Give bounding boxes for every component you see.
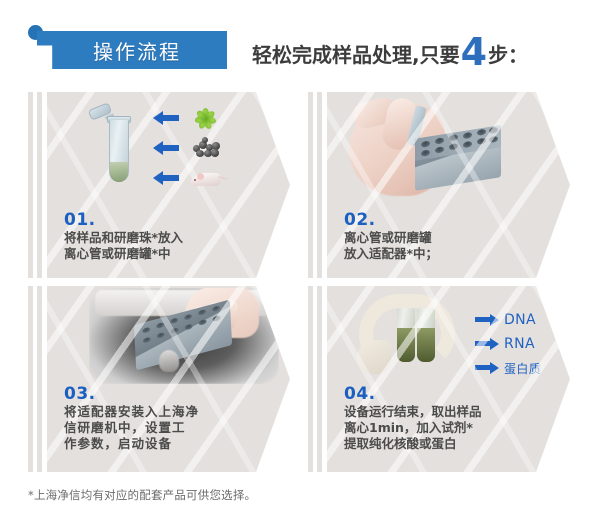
page-title: 轻松完成样品处理,只要 4 步： bbox=[252, 34, 528, 68]
step-card-01: 01. 将样品和研磨珠*放入 离心管或研磨罐*中 bbox=[28, 92, 290, 278]
card-accent-bar bbox=[28, 92, 33, 278]
sample-row-leaf bbox=[153, 106, 263, 130]
step-card-03: 03. 将适配器安装入上海净 信研磨机中，设置工 作参数，启动设备 bbox=[28, 286, 290, 472]
output-row-protein: 蛋白质 bbox=[475, 358, 541, 378]
card-accent-bar bbox=[317, 286, 322, 472]
photo-gloved-hand-vials bbox=[357, 292, 477, 388]
output-list: DNA RNA 蛋白质 bbox=[475, 310, 567, 380]
tube-liquid bbox=[110, 162, 128, 182]
leaf-icon bbox=[191, 106, 219, 130]
step-description: 将适配器安装入上海净 信研磨机中，设置工 作参数，启动设备 bbox=[64, 404, 254, 452]
sample-vial bbox=[417, 308, 435, 362]
output-label: DNA bbox=[504, 312, 536, 328]
sample-types-list bbox=[153, 106, 263, 192]
page-header: 操作流程 轻松完成样品处理,只要 4 步： bbox=[0, 0, 600, 86]
output-label: 蛋白质 bbox=[504, 360, 541, 377]
step-description: 离心管或研磨罐 放入适配器*中； bbox=[344, 230, 534, 262]
grinding-beads-icon bbox=[191, 137, 223, 159]
banner-title: 操作流程 bbox=[37, 31, 227, 69]
step-number: 02. bbox=[344, 210, 376, 230]
sample-row-beads bbox=[153, 136, 263, 160]
infographic-page: 操作流程 轻松完成样品处理,只要 4 步： bbox=[0, 0, 600, 526]
arrow-left-icon bbox=[153, 141, 179, 155]
step-number: 03. bbox=[64, 384, 96, 404]
card-accent-bar bbox=[37, 92, 42, 278]
arrow-left-icon bbox=[153, 171, 179, 185]
card-accent-bar bbox=[317, 92, 322, 278]
card-accent-bar bbox=[28, 286, 33, 472]
output-row-rna: RNA bbox=[475, 334, 535, 354]
step-number: 04. bbox=[344, 384, 376, 404]
arrow-right-icon bbox=[475, 314, 499, 326]
card-accent-bar bbox=[37, 286, 42, 472]
mouse-icon bbox=[191, 168, 225, 188]
step-description: 将样品和研磨珠*放入 离心管或研磨罐*中 bbox=[64, 230, 254, 262]
step-card-02: 02. 离心管或研磨罐 放入适配器*中； bbox=[308, 92, 570, 278]
arrow-right-icon bbox=[475, 362, 499, 374]
photo-hand-adapter bbox=[349, 98, 519, 202]
output-label: RNA bbox=[504, 336, 535, 352]
photo-grinder-install bbox=[89, 288, 279, 384]
footnote: *上海净信均有对应的配套产品可供您选择。 bbox=[28, 487, 256, 503]
steps-grid: 01. 将样品和研磨珠*放入 离心管或研磨罐*中 bbox=[0, 88, 600, 478]
headline-prefix: 轻松完成样品处理,只要 bbox=[252, 39, 460, 68]
arrow-left-icon bbox=[153, 111, 179, 125]
sample-vial bbox=[397, 308, 415, 362]
step-description: 设备运行结束，取出样品 离心1min，加入试剂* 提取纯化核酸或蛋白 bbox=[344, 404, 534, 452]
headline-suffix: 步： bbox=[488, 39, 528, 68]
card-accent-bar bbox=[308, 286, 313, 472]
output-row-dna: DNA bbox=[475, 310, 536, 330]
centrifuge-tube-icon bbox=[95, 104, 141, 196]
sample-row-mouse bbox=[153, 166, 263, 190]
glove-thumb bbox=[357, 340, 391, 374]
card-accent-bar bbox=[308, 92, 313, 278]
step-number: 01. bbox=[64, 210, 96, 230]
headline-step-count: 4 bbox=[461, 37, 487, 67]
grinder-knob bbox=[159, 350, 179, 372]
step-card-04: DNA RNA 蛋白质 bbox=[308, 286, 570, 472]
arrow-right-icon bbox=[475, 338, 499, 350]
